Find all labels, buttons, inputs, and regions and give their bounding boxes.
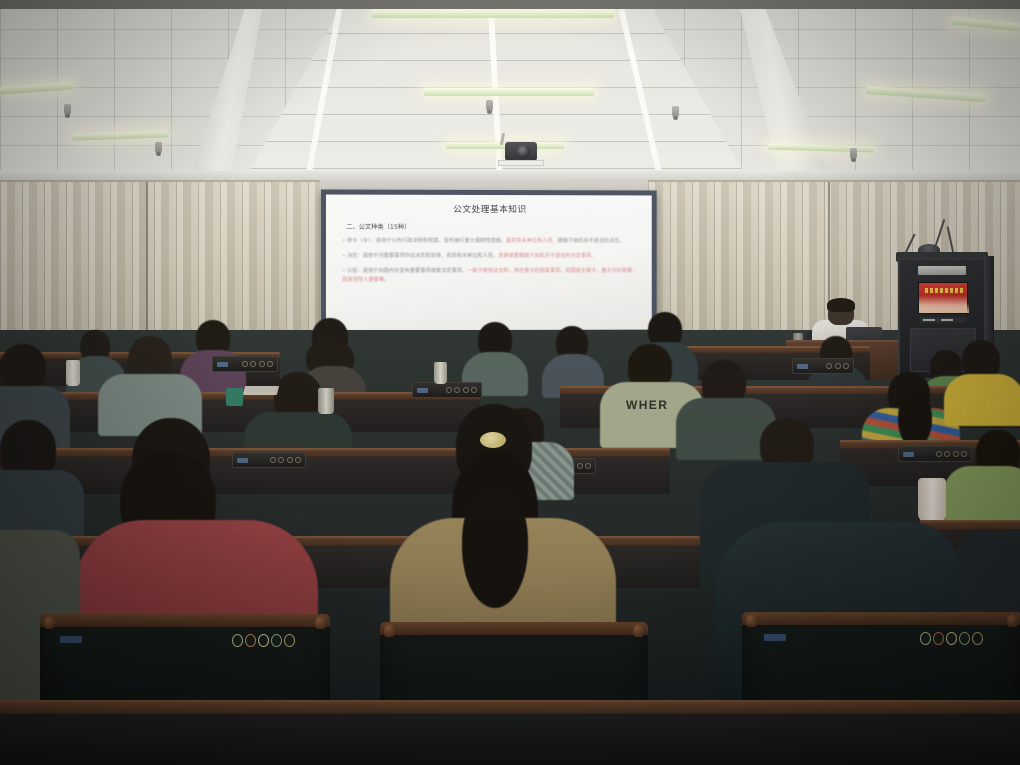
console-button[interactable] [446, 387, 452, 393]
console-tag [797, 364, 808, 369]
rack-button-row [920, 317, 966, 323]
curtain-seam [146, 182, 148, 350]
console-button[interactable] [944, 451, 950, 457]
medallion [245, 634, 256, 647]
sprinkler-icon [850, 148, 857, 160]
sprinkler-icon [64, 104, 71, 116]
rack-slot [918, 266, 966, 275]
slide-bullet: • 决定：适用于对重要事项作出决定和安排、奖惩有关单位和人员、变更或者撤销下级机… [342, 252, 642, 261]
medallion [271, 634, 282, 647]
paper-sheet [243, 386, 279, 395]
green-cup-icon [226, 388, 243, 406]
medallion [920, 632, 931, 645]
cup-icon [66, 360, 80, 386]
console-button[interactable] [259, 361, 265, 367]
chair-plate [764, 634, 786, 641]
console-button[interactable] [961, 451, 967, 457]
mic-console[interactable] [792, 358, 854, 374]
chair-knob [384, 624, 395, 637]
console-button[interactable] [267, 361, 273, 367]
projection-screen: 公文处理基本知识 二、公文种类（15种） • 命令（令）：适用于公布行政法规和规… [321, 189, 657, 335]
console-button[interactable] [295, 457, 301, 463]
medallion [258, 634, 269, 647]
sprinkler-icon [486, 100, 493, 112]
fluorescent-light-icon [424, 88, 594, 96]
medallion [232, 634, 243, 647]
console-button[interactable] [826, 363, 832, 369]
slide-bullet: • 公告：适用于向国内外宣布重要事项或者法定事项。一般不使用这文种，用在重大的国… [342, 267, 642, 285]
console-button[interactable] [454, 387, 460, 393]
curtain-left [0, 182, 320, 350]
sprinkler-icon [672, 106, 679, 118]
medallion [933, 632, 944, 645]
white-cup-icon [918, 478, 946, 522]
mic-console[interactable] [412, 382, 482, 398]
console-button[interactable] [471, 387, 477, 393]
fluorescent-light-icon [372, 9, 614, 18]
jacket-text-label: WHER [626, 398, 668, 412]
yellow-top-torso [944, 374, 1020, 426]
sprinkler-icon [155, 142, 162, 154]
console-tag [237, 458, 248, 463]
chair-knob [633, 624, 644, 637]
projector-ceiling-plate [498, 160, 544, 166]
rack-display-screen [918, 282, 968, 314]
ceiling-top-shadow [0, 0, 1020, 9]
console-button[interactable] [250, 361, 256, 367]
audience-head [0, 344, 46, 392]
chair-knob [44, 616, 55, 629]
console-button[interactable] [278, 457, 284, 463]
slide-title: 公文处理基本知识 [336, 203, 642, 216]
photo-scene: 公文处理基本知识 二、公文种类（15种） • 命令（令）：适用于公布行政法规和规… [0, 0, 1020, 765]
scrunchie-icon [480, 432, 506, 448]
tan-jacket-ponytail [462, 486, 528, 608]
medallion [284, 634, 295, 647]
console-button[interactable] [577, 463, 583, 469]
medallion [972, 632, 983, 645]
console-tag [217, 362, 228, 367]
chair-medallions [232, 634, 295, 647]
chair-top-rail [380, 622, 648, 635]
chair-knob [315, 616, 326, 629]
slide-bullet: • 命令（令）：适用于公布行政法规和规章、宣布施行重大强制性措施、嘉奖有关单位和… [342, 237, 642, 246]
medallion [946, 632, 957, 645]
console-button[interactable] [242, 361, 248, 367]
console-button[interactable] [270, 457, 276, 463]
slide-section-heading: 二、公文种类（15种） [346, 222, 642, 231]
cup-icon [318, 388, 334, 414]
chair-knob [1007, 614, 1018, 627]
foreground-desk-ledge [0, 700, 1020, 765]
console-button[interactable] [835, 363, 841, 369]
chair-top-rail [742, 612, 1020, 625]
presenter-hair [827, 298, 855, 311]
mic-console[interactable] [232, 452, 306, 468]
projector-lens-icon [517, 145, 530, 158]
mic-console[interactable] [898, 446, 972, 462]
cup-icon [434, 362, 447, 384]
console-tag [417, 388, 428, 393]
projection-screen-surface: 公文处理基本知识 二、公文种类（15种） • 命令（令）：适用于公布行政法规和规… [326, 195, 652, 331]
chair-medallions [920, 632, 983, 645]
console-button[interactable] [585, 463, 591, 469]
mic-console[interactable] [212, 356, 278, 372]
chair-top-rail [40, 614, 330, 627]
chair-plate [60, 636, 82, 643]
chair-knob [746, 614, 757, 627]
console-button[interactable] [953, 451, 959, 457]
medallion [959, 632, 970, 645]
console-button[interactable] [843, 363, 849, 369]
console-button[interactable] [287, 457, 293, 463]
console-button[interactable] [463, 387, 469, 393]
console-tag [903, 452, 914, 457]
console-button[interactable] [936, 451, 942, 457]
glasses-icon [831, 311, 851, 315]
